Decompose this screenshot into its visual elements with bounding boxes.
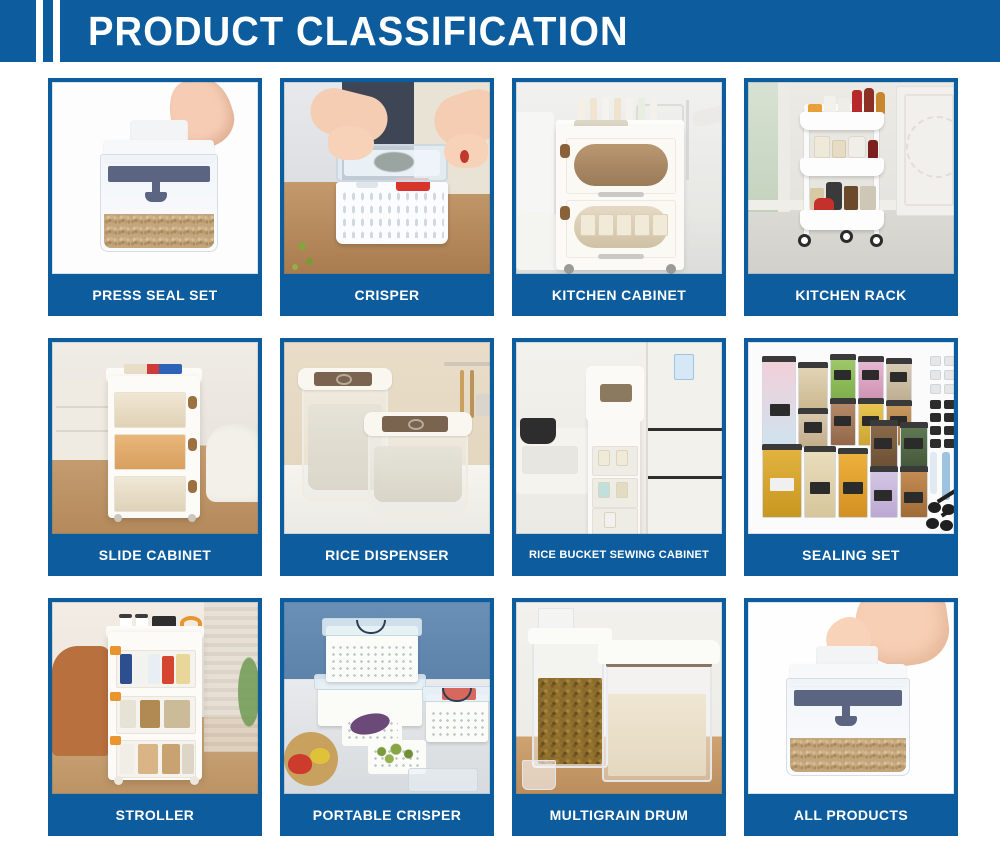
category-label-sealing-set: SEALING SET — [744, 534, 958, 576]
page-header: PRODUCT CLASSIFICATION — [0, 0, 1000, 62]
category-label-rice-bucket-sewing-cabinet: RICE BUCKET SEWING CABINET — [512, 534, 726, 576]
category-label-slide-cabinet: SLIDE CABINET — [48, 534, 262, 576]
category-label-multigrain-drum: MULTIGRAIN DRUM — [512, 794, 726, 836]
category-label-kitchen-rack: KITCHEN RACK — [744, 274, 958, 316]
category-label-rice-dispenser: RICE DISPENSER — [280, 534, 494, 576]
category-card-kitchen-rack[interactable]: KITCHEN RACK — [744, 78, 958, 316]
header-accent-bar-1 — [36, 0, 43, 62]
category-image-portable-crisper — [280, 598, 494, 794]
category-card-multigrain-drum[interactable]: MULTIGRAIN DRUM — [512, 598, 726, 836]
category-card-slide-cabinet[interactable]: SLIDE CABINET — [48, 338, 262, 576]
category-image-all-products — [744, 598, 958, 794]
category-card-rice-bucket-sewing-cabinet[interactable]: RICE BUCKET SEWING CABINET — [512, 338, 726, 576]
category-label-portable-crisper: PORTABLE CRISPER — [280, 794, 494, 836]
category-label-press-seal-set: PRESS SEAL SET — [48, 274, 262, 316]
category-image-slide-cabinet — [48, 338, 262, 534]
category-image-kitchen-rack — [744, 78, 958, 274]
category-image-rice-dispenser — [280, 338, 494, 534]
category-grid: PRESS SEAL SET — [48, 78, 960, 836]
category-image-crisper — [280, 78, 494, 274]
header-left-spacer — [0, 0, 36, 62]
category-label-kitchen-cabinet: KITCHEN CABINET — [512, 274, 726, 316]
category-card-kitchen-cabinet[interactable]: KITCHEN CABINET — [512, 78, 726, 316]
category-image-press-seal-set — [48, 78, 262, 274]
header-title-spacer — [60, 0, 88, 62]
category-card-rice-dispenser[interactable]: RICE DISPENSER — [280, 338, 494, 576]
header-bar-gap — [43, 0, 53, 62]
category-image-stroller — [48, 598, 262, 794]
header-accent-bar-2 — [53, 0, 60, 62]
category-card-stroller[interactable]: STROLLER — [48, 598, 262, 836]
page-title: PRODUCT CLASSIFICATION — [88, 8, 629, 55]
category-label-crisper: CRISPER — [280, 274, 494, 316]
category-label-stroller: STROLLER — [48, 794, 262, 836]
category-card-press-seal-set[interactable]: PRESS SEAL SET — [48, 78, 262, 316]
product-classification-page: PRODUCT CLASSIFICATION PRESS SEA — [0, 0, 1000, 844]
category-card-sealing-set[interactable]: SEALING SET — [744, 338, 958, 576]
category-card-crisper[interactable]: CRISPER — [280, 78, 494, 316]
category-card-all-products[interactable]: ALL PRODUCTS — [744, 598, 958, 836]
category-label-all-products: ALL PRODUCTS — [744, 794, 958, 836]
category-card-portable-crisper[interactable]: PORTABLE CRISPER — [280, 598, 494, 836]
category-image-multigrain-drum — [512, 598, 726, 794]
category-image-sealing-set — [744, 338, 958, 534]
category-image-kitchen-cabinet — [512, 78, 726, 274]
category-image-rice-bucket-sewing-cabinet — [512, 338, 726, 534]
